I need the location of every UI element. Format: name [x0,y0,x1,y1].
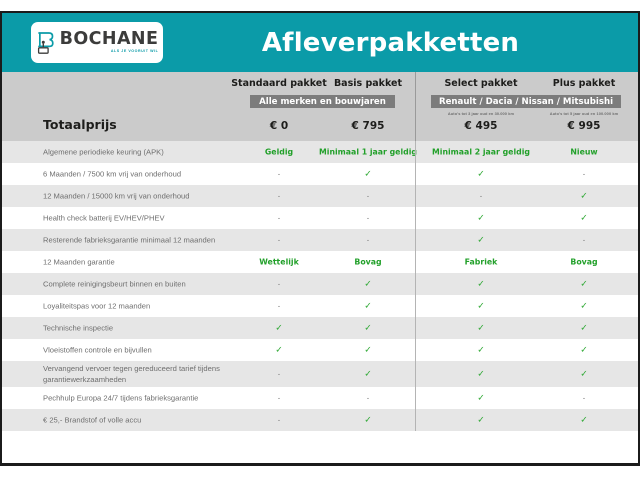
cell-check: ✓ [426,213,536,224]
cell-check: ✓ [426,369,536,380]
row-label: Resterende fabrieksgarantie minimaal 12 … [43,235,243,246]
table-row: Loyaliteitspas voor 12 maanden-✓✓✓ [2,295,638,317]
cell-text: Fabriek [426,258,536,267]
scope-bar-renault-groep: Renault / Dacia / Nissan / Mitsubishi [431,95,621,108]
afleverpakketten-card: BOCHANE ALS JE VOORUIT WIL Afleverpakket… [0,11,640,466]
logo-wordmark: BOCHANE [60,31,159,49]
column-title-basis: Basis pakket [313,78,423,89]
scope-bar-alle-merken: Alle merken en bouwjaren [250,95,395,108]
cell-dash: - [529,236,639,245]
table-row: Vloeistoffen controle en bijvullen✓✓✓✓ [2,339,638,361]
cell-check: ✓ [313,415,423,426]
cell-check: ✓ [313,279,423,290]
feature-table: Algemene periodieke keuring (APK)GeldigM… [2,141,638,431]
table-row: Technische inspectie✓✓✓✓ [2,317,638,339]
row-label: Complete reinigingsbeurt binnen en buite… [43,279,243,290]
cell-check: ✓ [426,345,536,356]
bochane-logo[interactable]: BOCHANE ALS JE VOORUIT WIL [31,22,163,63]
row-label: 12 Maanden / 15000 km vrij van onderhoud [43,191,243,202]
cell-check: ✓ [529,301,639,312]
cell-dash: - [313,192,423,201]
cell-check: ✓ [529,213,639,224]
price-select: € 495 [426,120,536,132]
table-row: Health check batterij EV/HEV/PHEV--✓✓ [2,207,638,229]
row-label: Vloeistoffen controle en bijvullen [43,345,243,356]
column-subtitle-select: Auto's tot 3 jaar oud en 30.000 km [426,111,536,116]
table-row: Vervangend vervoer tegen gereduceerd tar… [2,361,638,387]
cell-check: ✓ [313,169,423,180]
cell-check: ✓ [529,279,639,290]
row-label: Algemene periodieke keuring (APK) [43,147,243,158]
column-title-select: Select pakket [426,78,536,89]
logo-tagline: ALS JE VOORUIT WIL [111,50,158,54]
row-label: 6 Maanden / 7500 km vrij van onderhoud [43,169,243,180]
cell-check: ✓ [426,279,536,290]
cell-dash: - [313,236,423,245]
cell-check: ✓ [426,235,536,246]
table-row: 12 Maanden / 15000 km vrij van onderhoud… [2,185,638,207]
cell-text: Nieuw [529,148,639,157]
cell-text: Minimaal 1 jaar geldig [313,148,423,157]
page-title: Afleverpakketten [163,28,638,58]
bochane-b-mark-icon [36,32,55,54]
price-basis: € 795 [313,120,423,132]
row-label: Health check batterij EV/HEV/PHEV [43,213,243,224]
row-label: Loyaliteitspas voor 12 maanden [43,301,243,312]
cell-check: ✓ [529,191,639,202]
row-label: € 25,- Brandstof of volle accu [43,415,243,426]
cell-check: ✓ [426,323,536,334]
cell-check: ✓ [426,169,536,180]
cell-dash: - [426,192,536,201]
table-row: € 25,- Brandstof of volle accu-✓✓✓ [2,409,638,431]
body-column-divider [415,141,416,431]
column-title-plus: Plus pakket [529,78,639,89]
column-header-block: Standaard pakket Basis pakket Select pak… [2,72,638,141]
table-row: Resterende fabrieksgarantie minimaal 12 … [2,229,638,251]
page-header: BOCHANE ALS JE VOORUIT WIL Afleverpakket… [2,13,638,72]
column-subtitle-plus: Auto's tot 5 jaar oud en 100.000 km [529,111,639,116]
table-row: 12 Maanden garantieWettelijkBovagFabriek… [2,251,638,273]
row-label: Pechhulp Europa 24/7 tijdens fabrieksgar… [43,393,243,404]
cell-check: ✓ [529,345,639,356]
cell-dash: - [529,170,639,179]
cell-check: ✓ [313,345,423,356]
row-label: Technische inspectie [43,323,243,334]
table-row: Complete reinigingsbeurt binnen en buite… [2,273,638,295]
cell-text: Minimaal 2 jaar geldig [426,148,536,157]
cell-dash: - [529,394,639,403]
price-plus: € 995 [529,120,639,132]
cell-check: ✓ [529,323,639,334]
page-root: BOCHANE ALS JE VOORUIT WIL Afleverpakket… [0,0,640,480]
cell-check: ✓ [426,415,536,426]
cell-check: ✓ [529,415,639,426]
cell-text: Bovag [313,258,423,267]
table-row: Pechhulp Europa 24/7 tijdens fabrieksgar… [2,387,638,409]
cell-check: ✓ [529,369,639,380]
cell-check: ✓ [426,301,536,312]
cell-text: Bovag [529,258,639,267]
row-label: 12 Maanden garantie [43,257,243,268]
totaalprijs-label: Totaalprijs [43,117,117,132]
cell-check: ✓ [313,323,423,334]
cell-check: ✓ [426,393,536,404]
row-label: Vervangend vervoer tegen gereduceerd tar… [43,363,243,385]
cell-dash: - [313,394,423,403]
cell-dash: - [313,214,423,223]
table-row: Algemene periodieke keuring (APK)GeldigM… [2,141,638,163]
table-row: 6 Maanden / 7500 km vrij van onderhoud-✓… [2,163,638,185]
cell-check: ✓ [313,369,423,380]
cell-check: ✓ [313,301,423,312]
table-bottom-spacer [2,431,638,444]
